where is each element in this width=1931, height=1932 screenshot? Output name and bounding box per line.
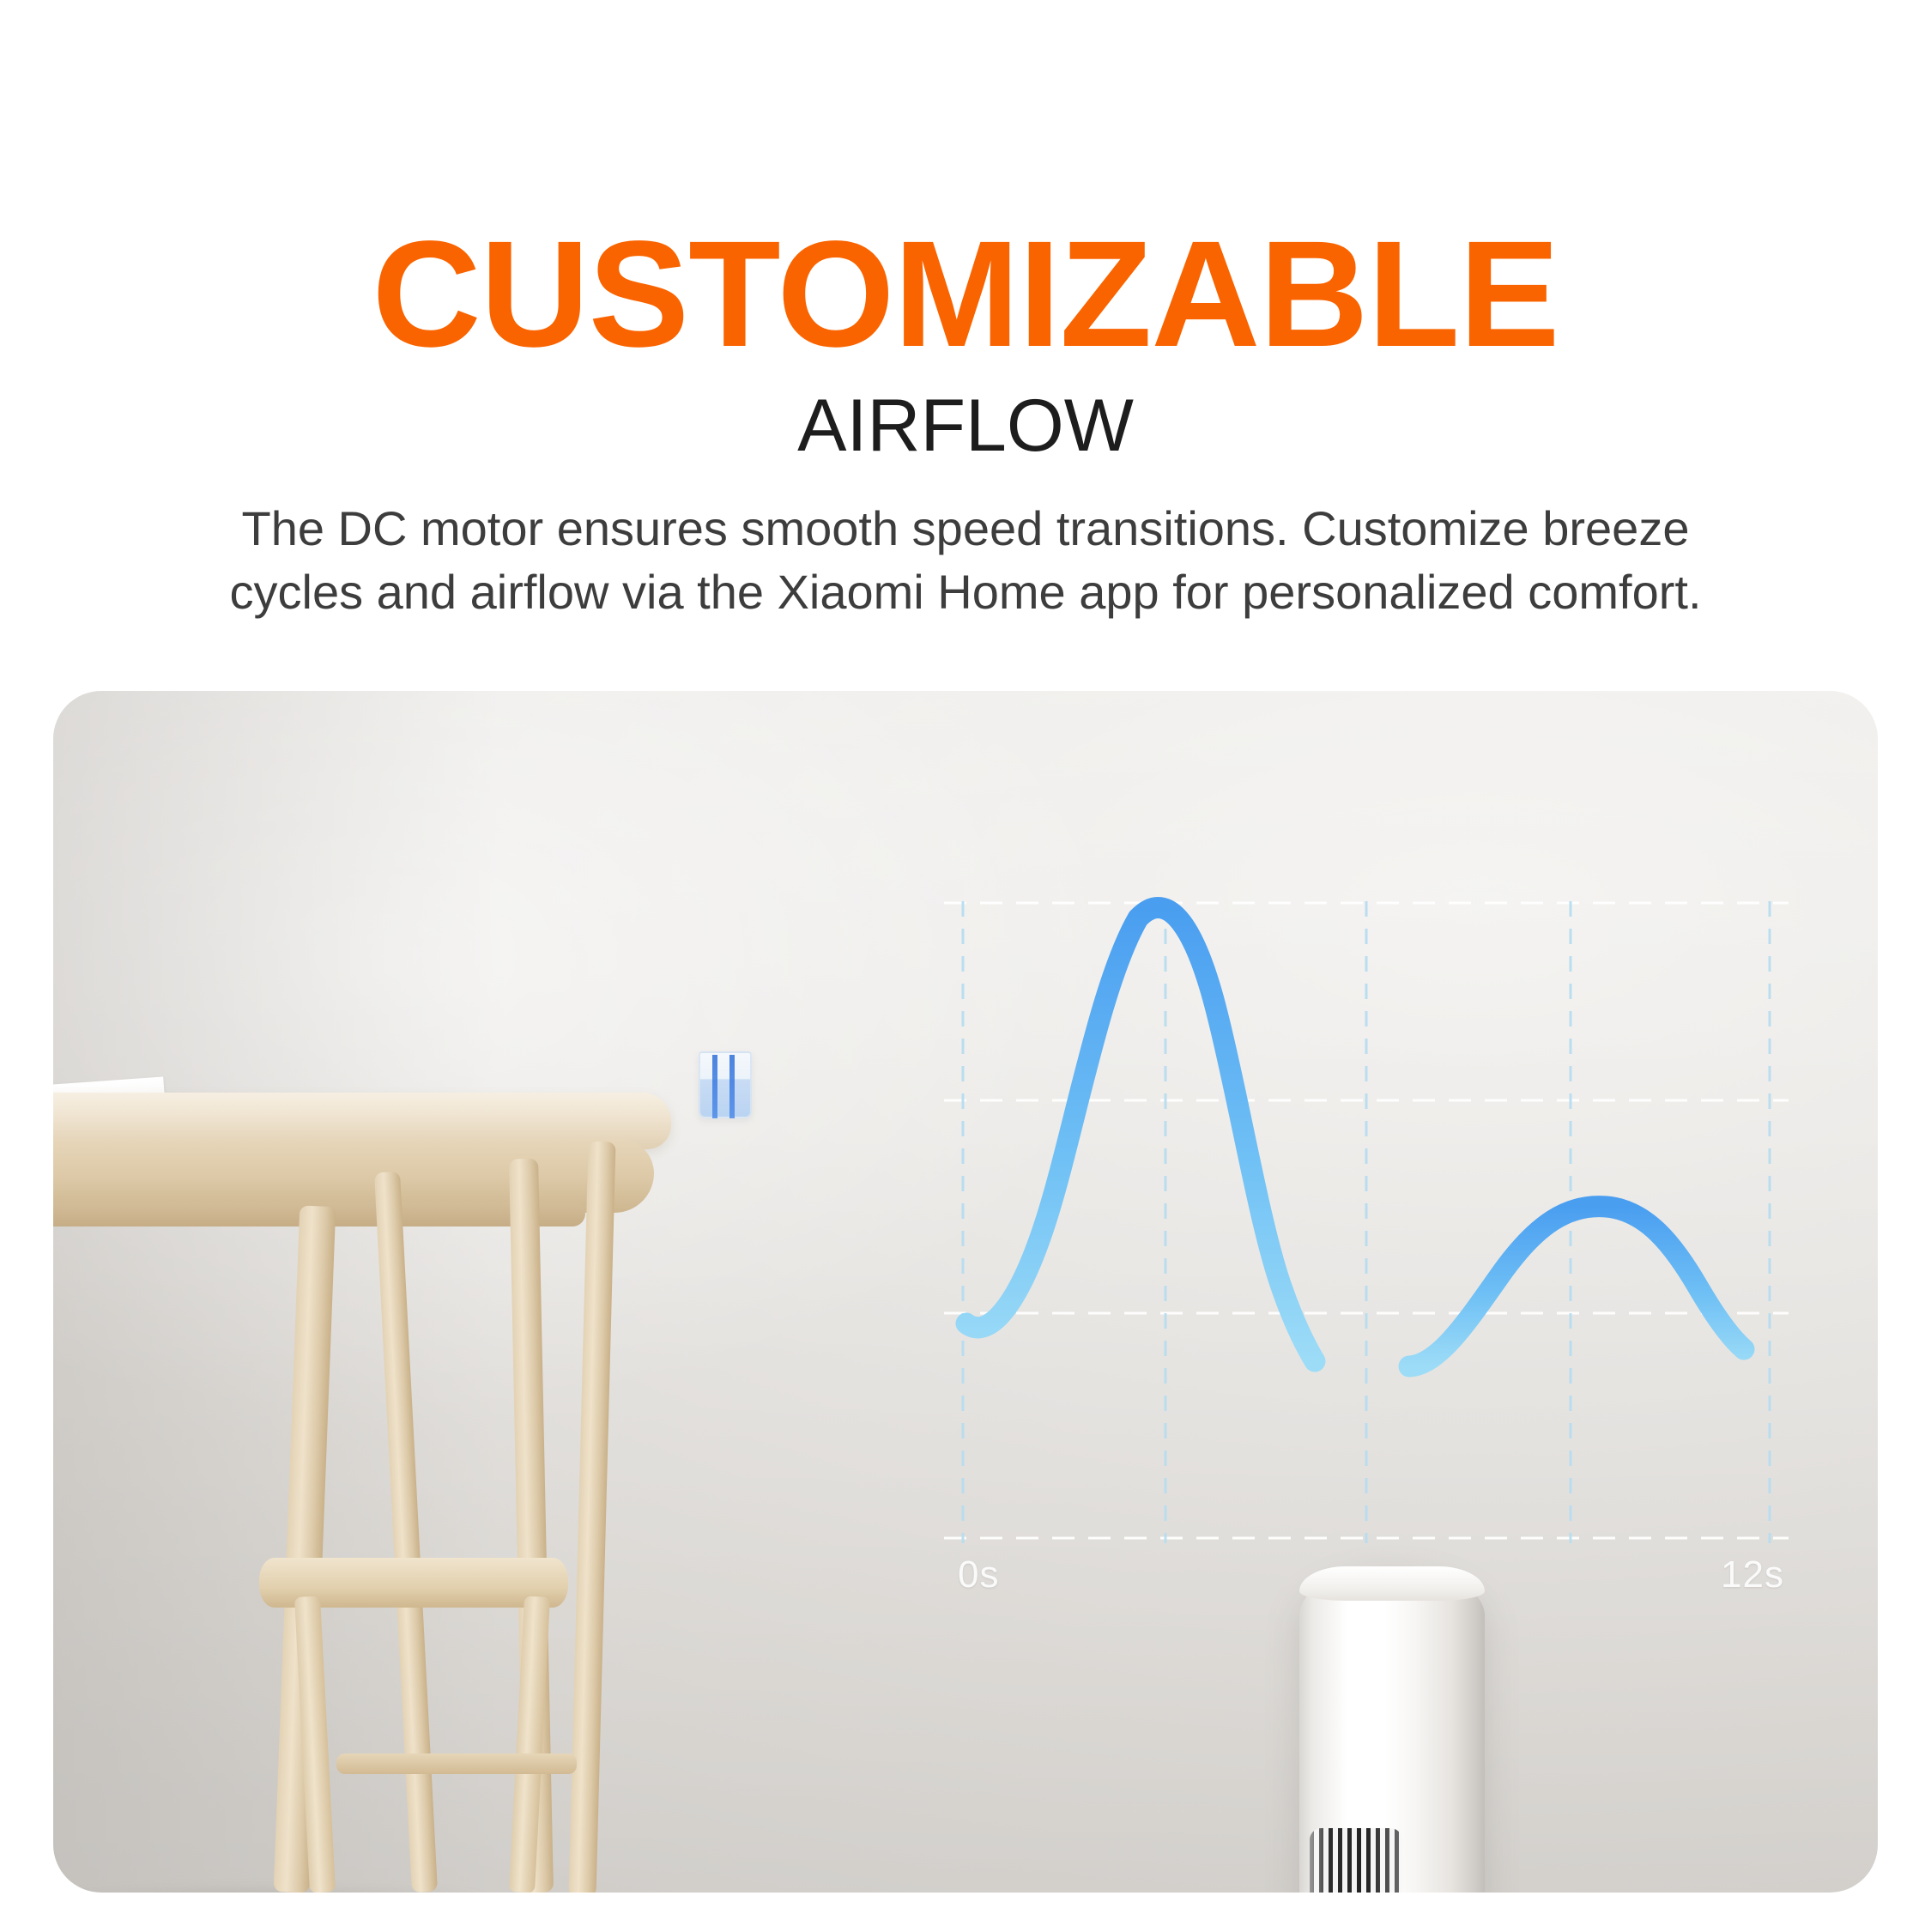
product-photo-panel: 0s 12s: [53, 691, 1878, 1893]
airflow-chart: 0s 12s: [944, 901, 1789, 1549]
airflow-chart-svg: [944, 901, 1789, 1549]
marketing-slide: CUSTOMIZABLE AIRFLOW The DC motor ensure…: [0, 0, 1931, 1932]
wall-shadow: [53, 691, 499, 1893]
fan-air-outlet-grille: [1310, 1828, 1402, 1893]
glass-stripe: [712, 1055, 717, 1118]
airflow-curve-segment-2: [1409, 1207, 1744, 1366]
x-axis-tick-start: 0s: [958, 1553, 999, 1596]
x-axis-tick-end: 12s: [1721, 1553, 1784, 1596]
page-title: CUSTOMIZABLE: [0, 219, 1931, 370]
stool-rung: [336, 1753, 577, 1774]
body-description: The DC motor ensures smooth speed transi…: [180, 497, 1751, 625]
fan-grille-shading: [1310, 1828, 1402, 1893]
page-subtitle: AIRFLOW: [0, 389, 1931, 463]
header-block: CUSTOMIZABLE AIRFLOW The DC motor ensure…: [0, 0, 1931, 625]
glass-stripe: [729, 1055, 735, 1118]
tower-fan: [1299, 1566, 1485, 1893]
fan-top-cap: [1299, 1566, 1485, 1601]
airflow-curve-segment-1: [966, 907, 1315, 1361]
glass-of-water: [699, 1051, 752, 1118]
